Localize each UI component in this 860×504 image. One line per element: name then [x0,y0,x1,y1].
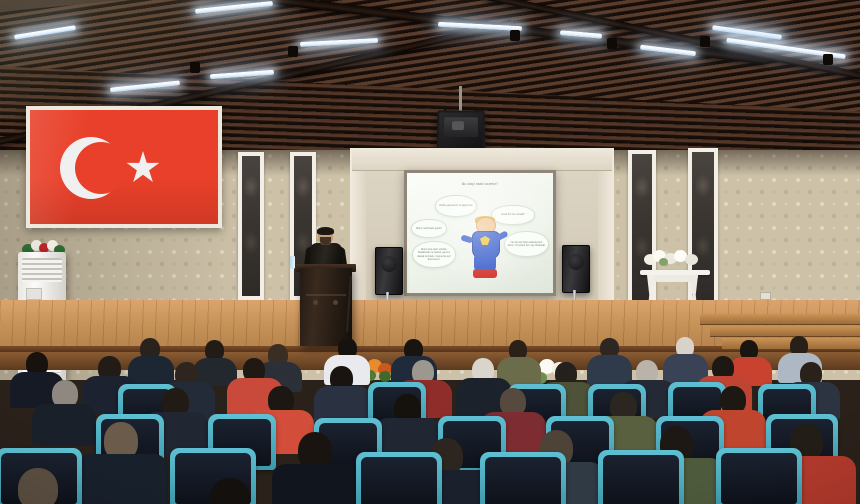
light-bracket-6 [823,54,833,65]
light-bracket-1 [190,62,200,73]
window-left-1 [238,152,264,300]
presentation-slide: Bu olayi nasil cozeriz? Daha yapmamiz is… [407,173,553,293]
projection-screen: Bu olayi nasil cozeriz? Daha yapmamiz is… [404,170,556,296]
audience-body [587,355,632,385]
podium [300,268,352,346]
loudspeaker-right [562,245,590,293]
auditorium-chair[interactable] [356,452,442,504]
light-bracket-2 [288,46,298,57]
auditorium-chair[interactable] [716,448,802,504]
turkish-flag [26,106,222,228]
water-bottle [290,256,295,269]
alcove-pillar-right [598,148,614,320]
auditorium-chair[interactable] [480,452,566,504]
audience-head [18,468,58,504]
loudspeaker-left [375,247,403,295]
auditorium-photo: Bu olayi nasil cozeriz? Daha yapmamiz is… [0,0,860,504]
wall-outlet-icon [760,292,771,300]
light-bracket-4 [607,38,617,49]
audience-body [32,404,96,446]
alcove-pillar-left [350,148,366,320]
auditorium-chair[interactable] [598,450,684,504]
audience-body [76,454,168,504]
light-bracket-5 [700,36,710,47]
audience-body [272,464,364,504]
alcove-header [352,148,612,171]
flag-star-icon [126,151,160,185]
audience-area [0,336,860,504]
light-bracket-3 [510,30,520,41]
